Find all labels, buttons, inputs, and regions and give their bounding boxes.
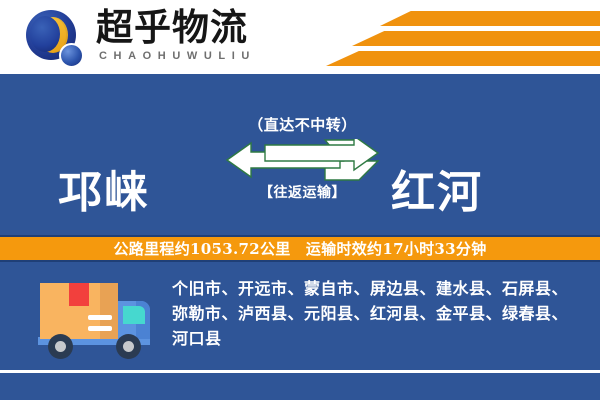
route-section: 邛崃 （直达不中转） 【往返运输】 红河 xyxy=(0,75,600,235)
coverage-section: 个旧市、开远市、蒙自市、屏边县、建水县、石屏县、弥勒市、泸西县、元阳县、红河县、… xyxy=(0,266,600,371)
distance-duration-bar: 公路里程约1053.72公里 运输时效约17小时33分钟 xyxy=(0,235,600,262)
brand-pinyin: CHAOHUWULIU xyxy=(96,48,256,64)
truck-window xyxy=(123,306,145,324)
route-middle: （直达不中转） 【往返运输】 xyxy=(225,115,380,203)
bidirectional-arrow-icon xyxy=(225,139,380,181)
logo-crescent-cutout xyxy=(30,16,60,52)
destination-city: 红河 xyxy=(391,167,483,219)
brand-block: 超乎物流 CHAOHUWULIU xyxy=(96,6,256,64)
truck-box-tape xyxy=(69,283,89,306)
stripe-1 xyxy=(380,11,600,26)
brand-name: 超乎物流 xyxy=(96,6,256,48)
distance-duration-text: 公路里程约1053.72公里 运输时效约17小时33分钟 xyxy=(114,239,487,259)
delivery-truck-icon xyxy=(28,279,160,361)
coverage-area-list: 个旧市、开远市、蒙自市、屏边县、建水县、石屏县、弥勒市、泸西县、元阳县、红河县、… xyxy=(172,276,580,351)
direct-service-tag: （直达不中转） xyxy=(225,115,380,135)
truck-stripe-2 xyxy=(88,326,112,331)
logistics-route-banner: 超乎物流 CHAOHUWULIU 邛崃 （直达不中转） 【往返运输】 红河 xyxy=(0,0,600,400)
truck-stripe-1 xyxy=(88,315,112,320)
stripe-2 xyxy=(352,31,600,46)
bottom-strip xyxy=(0,373,600,400)
stripe-3 xyxy=(326,51,600,66)
speed-stripes-icon xyxy=(330,0,600,74)
logo-small-sphere xyxy=(59,43,84,68)
header: 超乎物流 CHAOHUWULIU xyxy=(0,0,600,74)
truck-rear-wheel xyxy=(48,334,73,359)
origin-city: 邛崃 xyxy=(58,167,150,219)
truck-front-wheel xyxy=(116,334,141,359)
roundtrip-tag: 【往返运输】 xyxy=(225,183,380,203)
circle-crescent-logo-icon xyxy=(26,10,84,66)
